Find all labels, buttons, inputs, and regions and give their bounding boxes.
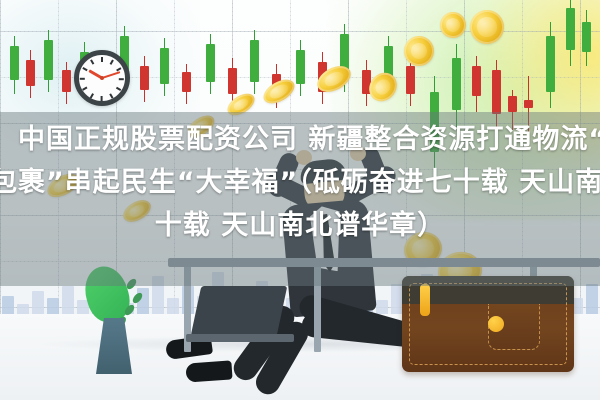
gold-coin-icon (364, 67, 403, 107)
laptop-screen (191, 286, 288, 336)
gold-coin-icon (313, 61, 355, 97)
wallet-clasp-button (488, 316, 504, 332)
leather-wallet (402, 276, 574, 372)
gold-coin-icon (400, 32, 438, 70)
headline-text: 中国正规股票配资公司 新疆整合资源打通物流“末 包裹”串起民生“大幸福”（砥砺奋… (0, 118, 600, 247)
headline-line-2: 包裹”串起民生“大幸福”（砥砺奋进七十载 天山南北 (0, 161, 600, 204)
gold-coin-icon (260, 75, 299, 108)
headline-line-3: 十载 天山南北谱华章） (0, 204, 600, 247)
gold-coin-icon (437, 9, 470, 42)
laptop-base (186, 334, 294, 342)
headline-line-1: 中国正规股票配资公司 新疆整合资源打通物流“末 (18, 118, 600, 161)
businessman-shoe-2 (185, 360, 232, 382)
gold-coin-icon (468, 8, 506, 46)
news-thumbnail-image: 中国正规股票配资公司 新疆整合资源打通物流“末 包裹”串起民生“大幸福”（砥砺奋… (0, 0, 600, 400)
